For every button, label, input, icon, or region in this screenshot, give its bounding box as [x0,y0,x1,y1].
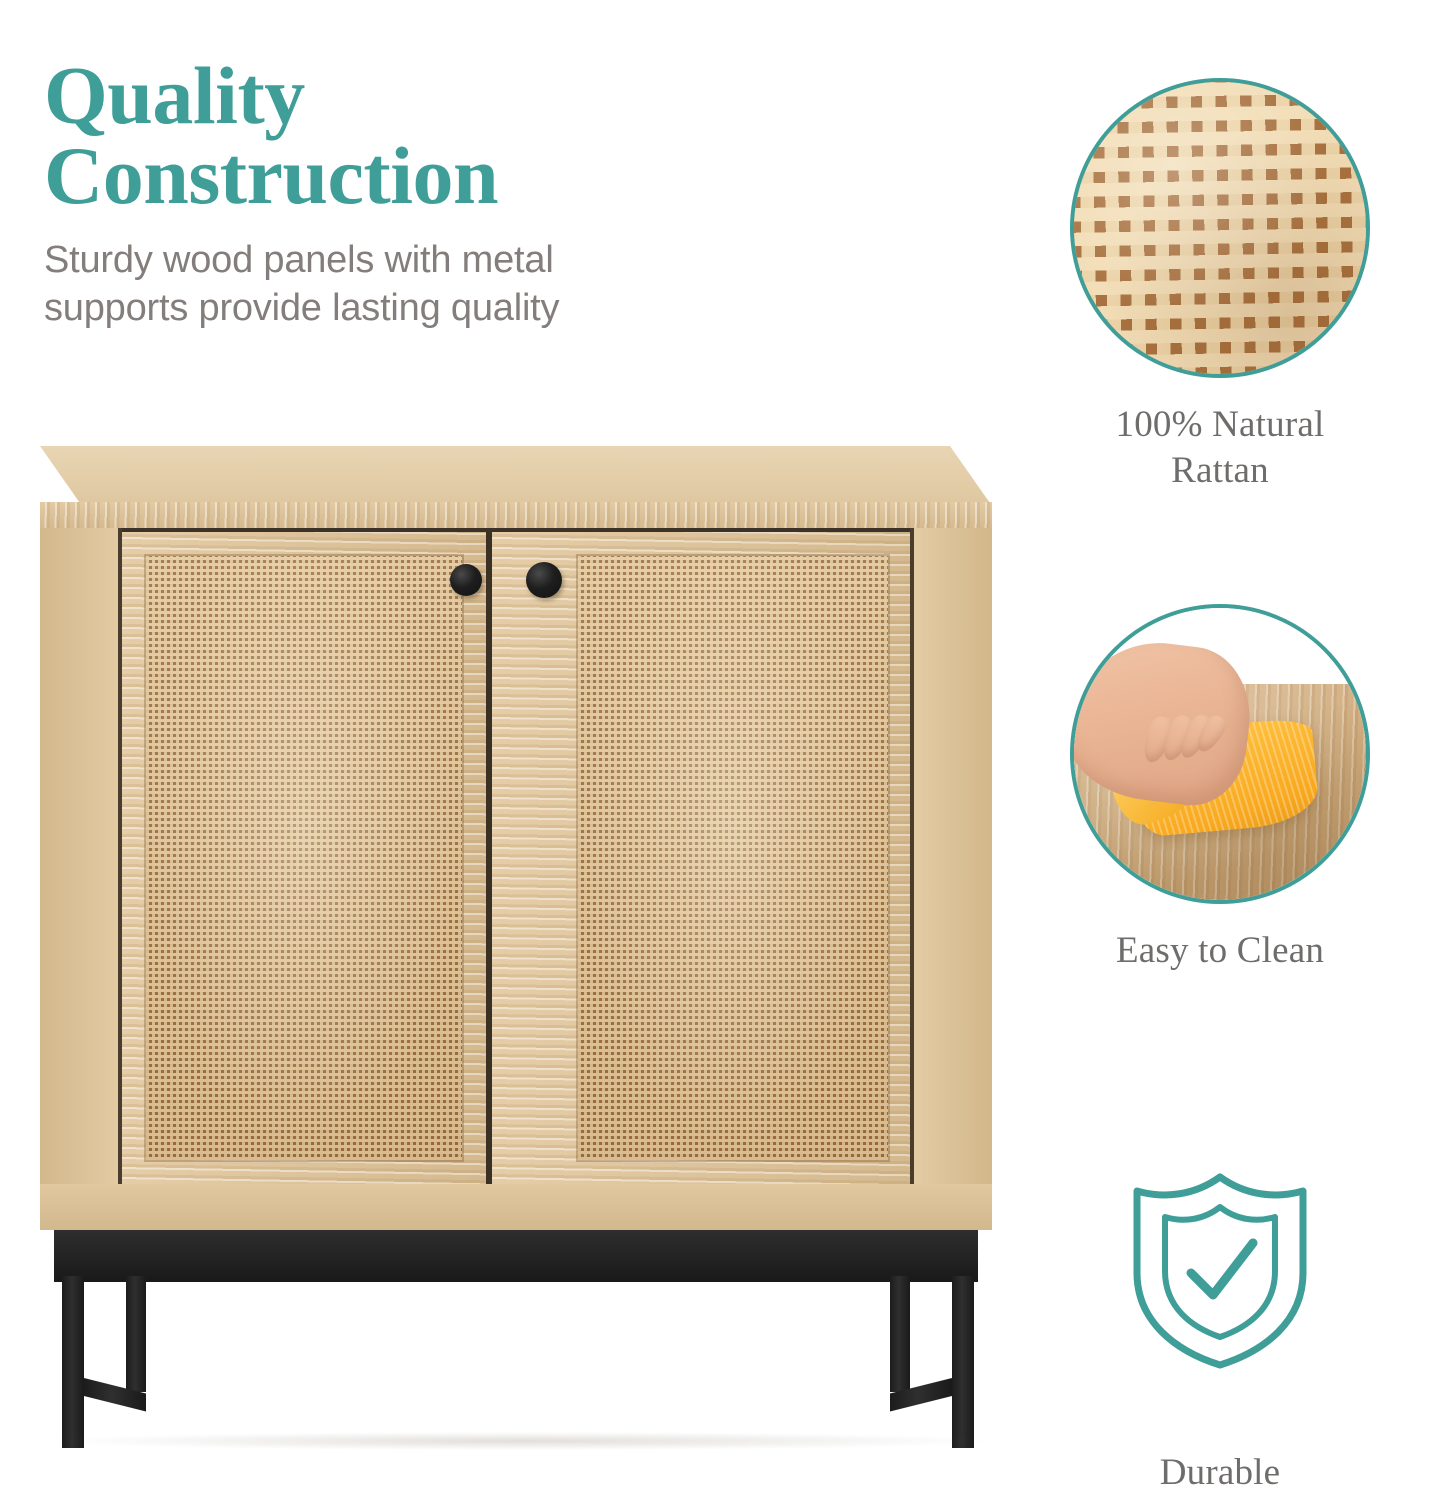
cabinet-top-surface [40,446,992,506]
feature-easy-to-clean: Easy to Clean [1010,604,1430,974]
page-title: Quality Construction [44,56,774,215]
cabinet-floor-shadow [58,1432,988,1450]
feature-label-line-1: Easy to Clean [1116,930,1324,971]
page-subtitle: Sturdy wood panels with metal supports p… [44,237,774,333]
product-photo-rattan-cabinet [18,432,998,1442]
feature-label-line-1: 100% Natural [1116,404,1325,445]
rattan-weave-shading [1074,82,1366,374]
hand-wiping-wood-icon [1070,604,1370,904]
feature-label-line-2: Rattan [1010,448,1430,494]
page-subtitle-line-2: supports provide lasting quality [44,285,774,333]
feature-durable: Durable [1010,1120,1430,1496]
cabinet-leg-back-left [126,1276,146,1392]
hand [1070,633,1258,812]
cabinet-base-apron [54,1230,978,1282]
page-title-line-2: Construction [44,136,774,216]
cabinet-bottom-rail [40,1184,992,1230]
feature-label-durable: Durable [1010,1450,1430,1496]
page-title-line-1: Quality [44,50,305,141]
cabinet-leg-front-right [952,1276,974,1448]
feature-label-line-1: Durable [1160,1452,1281,1493]
cabinet-right-side-panel [914,528,992,1188]
rattan-weave-closeup-icon [1070,78,1370,378]
cabinet-rattan-panel-left-inset [144,554,464,1162]
cabinet-knob-left[interactable] [450,564,482,596]
feature-label-natural-rattan: 100% Natural Rattan [1010,402,1430,495]
cabinet-leg-front-left [62,1276,84,1448]
cabinet-leg-back-right [890,1276,910,1392]
feature-label-easy-to-clean: Easy to Clean [1010,928,1430,974]
cabinet-top-edge [40,502,992,528]
page-subtitle-line-1: Sturdy wood panels with metal [44,239,554,281]
cabinet-knob-right[interactable] [526,562,562,598]
cabinet-door-reveal-right [910,528,914,1188]
cabinet-rattan-panel-right-inset [576,554,890,1162]
shield-check-icon [1070,1120,1370,1420]
feature-natural-rattan: 100% Natural Rattan [1010,78,1430,495]
cabinet-left-side-panel [40,528,118,1188]
headline-block: Quality Construction Sturdy wood panels … [44,56,774,333]
clean-scene [1074,608,1366,900]
